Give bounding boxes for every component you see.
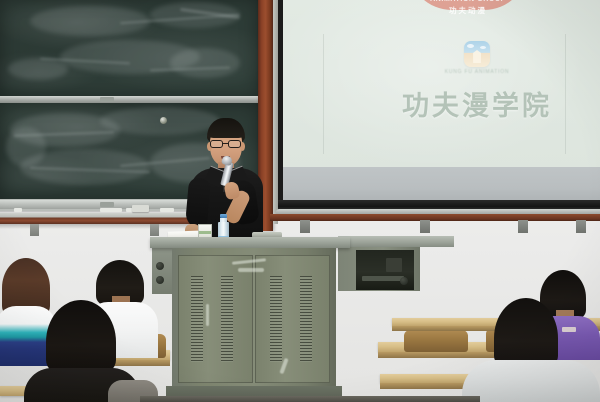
blackboard-panel-top (0, 0, 258, 97)
slide-banner-chinese: 功夫动漫 (408, 5, 528, 16)
lectern-top (150, 237, 350, 248)
screen-seam (323, 34, 324, 154)
rail-bracket (300, 220, 310, 233)
castle-logo-icon (464, 41, 490, 67)
lectern-door-left[interactable] (178, 255, 253, 383)
screen-lower-band (283, 167, 600, 202)
box-label (199, 231, 211, 234)
screen-wood-rail (270, 214, 600, 221)
glasses-bridge (223, 143, 228, 144)
building-shape (470, 50, 484, 63)
presenter-fringe (208, 126, 244, 138)
rail-bracket (576, 220, 586, 233)
lectern-door-right[interactable] (255, 255, 330, 383)
floor (140, 396, 480, 402)
shirt-logo (562, 327, 576, 332)
board-eraser (132, 205, 149, 212)
blackboard-center-rail (0, 96, 264, 103)
equipment-bay (356, 250, 414, 290)
side-desk-top (338, 236, 454, 247)
lecture-hall-photo: ANIMATION GROUP 功夫动漫 KUNG FU ANIMATION 功… (0, 0, 600, 402)
chalk-stick (100, 208, 122, 212)
presenter-arm-left (185, 177, 211, 229)
audience-front-right-grey-shirt (462, 360, 600, 402)
slide-title: 功夫漫学院 (400, 84, 554, 123)
lectern-cabinet (172, 248, 336, 388)
screen-seam (565, 34, 566, 154)
rail-bracket (518, 220, 528, 233)
ledge-bracket (150, 224, 159, 236)
chair-back (404, 330, 468, 352)
chalk-stick (14, 208, 22, 212)
slide-banner-english: ANIMATION GROUP (408, 0, 528, 3)
slide-logo-subtext: KUNG FU ANIMATION (440, 69, 514, 75)
lectern-lock[interactable] (160, 117, 167, 124)
glasses-lens-right (228, 140, 241, 148)
podium-side-box (152, 248, 174, 294)
podium-knob (156, 276, 164, 284)
podium-knob (156, 262, 164, 270)
blackboard-clip (100, 97, 114, 102)
blackboard-clip (100, 202, 114, 207)
glasses-lens-left (210, 140, 223, 148)
rail-bracket (420, 220, 430, 233)
audience-front-left-hair (46, 300, 116, 376)
chalk-stick (160, 208, 174, 212)
ledge-bracket (30, 224, 39, 236)
